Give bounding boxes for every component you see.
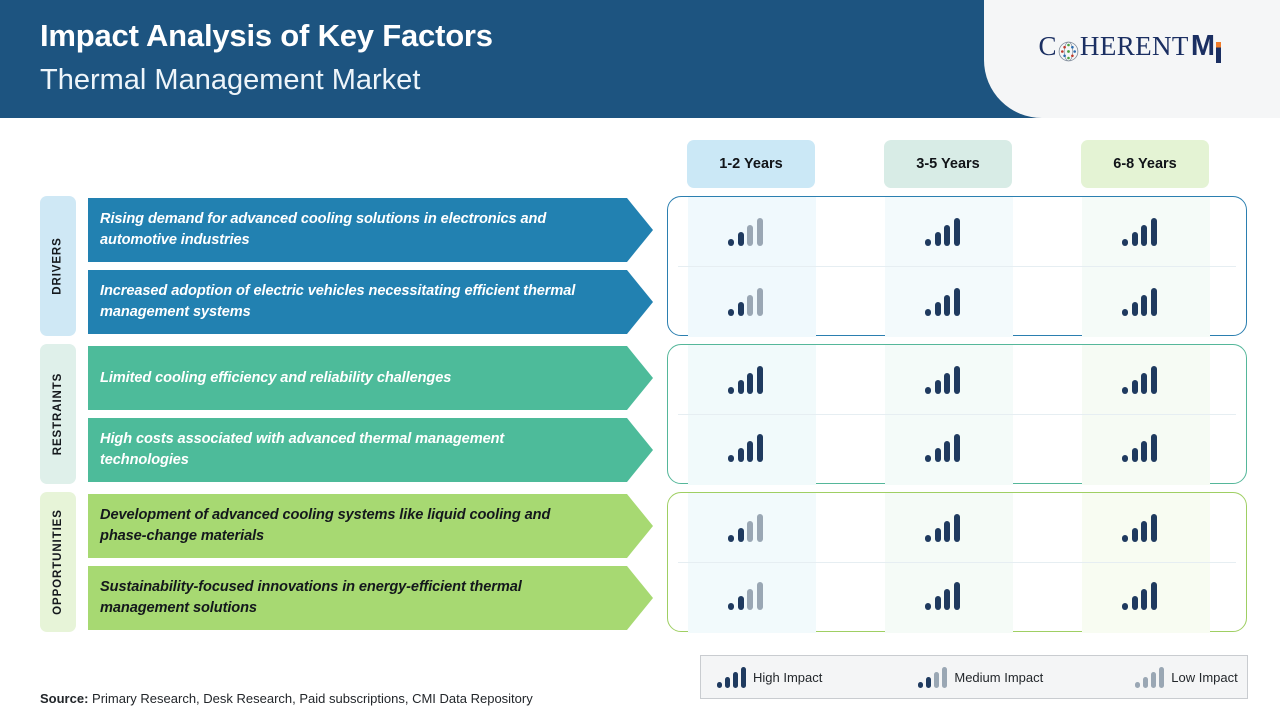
impact-indicator-restraints-r0-c1 bbox=[925, 364, 960, 394]
group-drivers: DRIVERS Rising demand for advanced cooli… bbox=[0, 196, 1280, 336]
factor-text: Rising demand for advanced cooling solut… bbox=[100, 209, 593, 251]
logo-panel: C HERENT bbox=[984, 0, 1280, 118]
impact-indicator-drivers-r0-c0 bbox=[728, 216, 763, 246]
column-header-1-2-years: 1-2 Years bbox=[687, 140, 815, 188]
page-subtitle: Thermal Management Market bbox=[40, 58, 493, 102]
factor-banner: Sustainability-focused innovations in en… bbox=[88, 566, 653, 630]
impact-indicator-opportunities-r0-c2 bbox=[1122, 512, 1157, 542]
logo-wordmark: C HERENT bbox=[1039, 31, 1189, 62]
logo-letter-i-accent bbox=[1216, 42, 1221, 63]
category-label-restraints: RESTRAINTS bbox=[52, 373, 64, 455]
source-value: Primary Research, Desk Research, Paid su… bbox=[88, 691, 532, 706]
category-label-drivers: DRIVERS bbox=[52, 237, 64, 294]
legend-item-low-impact: Low Impact bbox=[1135, 655, 1237, 699]
impact-indicator-drivers-r0-c1 bbox=[925, 216, 960, 246]
factor-banner: High costs associated with advanced ther… bbox=[88, 418, 653, 482]
impact-indicator-restraints-r1-c2 bbox=[1122, 432, 1157, 462]
brand-logo: C HERENT bbox=[984, 30, 1276, 63]
source-footer: Source: Primary Research, Desk Research,… bbox=[40, 691, 533, 706]
timeframe-column-headers: 1-2 Years 3-5 Years 6-8 Years bbox=[0, 140, 1280, 188]
legend-label-medium: Medium Impact bbox=[954, 670, 1043, 685]
low-impact-bars-icon bbox=[1135, 666, 1164, 688]
page-header: Impact Analysis of Key Factors Thermal M… bbox=[0, 0, 1280, 118]
group-opportunities: OPPORTUNITIES Development of advanced co… bbox=[0, 492, 1280, 632]
impact-legend: High Impact Medium Impact Low Impact bbox=[700, 655, 1248, 699]
column-header-3-5-years: 3-5 Years bbox=[884, 140, 1012, 188]
impact-indicator-drivers-r1-c1 bbox=[925, 286, 960, 316]
impact-indicator-opportunities-r0-c0 bbox=[728, 512, 763, 542]
high-impact-bars-icon bbox=[717, 666, 746, 688]
row-divider bbox=[678, 562, 1236, 563]
factor-banner: Limited cooling efficiency and reliabili… bbox=[88, 346, 653, 410]
impact-indicator-restraints-r1-c0 bbox=[728, 432, 763, 462]
row-divider bbox=[678, 266, 1236, 267]
logo-letter-m: M bbox=[1191, 30, 1215, 63]
legend-item-high-impact: High Impact bbox=[717, 655, 822, 699]
category-label-opportunities: OPPORTUNITIES bbox=[52, 509, 64, 615]
legend-label-low: Low Impact bbox=[1171, 670, 1237, 685]
source-label: Source: bbox=[40, 691, 88, 706]
impact-indicator-restraints-r0-c0 bbox=[728, 364, 763, 394]
logo-letter-c: C bbox=[1039, 31, 1057, 62]
impact-indicator-drivers-r1-c0 bbox=[728, 286, 763, 316]
factor-banner: Development of advanced cooling systems … bbox=[88, 494, 653, 558]
category-tab-drivers: DRIVERS bbox=[40, 196, 76, 336]
legend-label-high: High Impact bbox=[753, 670, 822, 685]
impact-indicator-drivers-r0-c2 bbox=[1122, 216, 1157, 246]
factor-text: Sustainability-focused innovations in en… bbox=[100, 577, 593, 619]
group-restraints: RESTRAINTS Limited cooling efficiency an… bbox=[0, 344, 1280, 484]
factor-text: High costs associated with advanced ther… bbox=[100, 429, 593, 471]
factor-banner: Rising demand for advanced cooling solut… bbox=[88, 198, 653, 262]
legend-item-medium-impact: Medium Impact bbox=[918, 655, 1043, 699]
impact-indicator-restraints-r1-c1 bbox=[925, 432, 960, 462]
impact-indicator-opportunities-r1-c1 bbox=[925, 580, 960, 610]
medium-impact-bars-icon bbox=[918, 666, 947, 688]
row-divider bbox=[678, 414, 1236, 415]
category-tab-restraints: RESTRAINTS bbox=[40, 344, 76, 484]
header-titles: Impact Analysis of Key Factors Thermal M… bbox=[40, 14, 493, 102]
factor-text: Development of advanced cooling systems … bbox=[100, 505, 593, 547]
impact-indicator-opportunities-r0-c1 bbox=[925, 512, 960, 542]
impact-indicator-opportunities-r1-c2 bbox=[1122, 580, 1157, 610]
factor-text: Increased adoption of electric vehicles … bbox=[100, 281, 593, 323]
category-tab-opportunities: OPPORTUNITIES bbox=[40, 492, 76, 632]
factor-banner: Increased adoption of electric vehicles … bbox=[88, 270, 653, 334]
column-header-6-8-years: 6-8 Years bbox=[1081, 140, 1209, 188]
impact-indicator-restraints-r0-c2 bbox=[1122, 364, 1157, 394]
logo-mi: M bbox=[1191, 30, 1222, 63]
page-title: Impact Analysis of Key Factors bbox=[40, 14, 493, 58]
impact-indicator-drivers-r1-c2 bbox=[1122, 286, 1157, 316]
logo-letters-herent: HERENT bbox=[1080, 31, 1189, 62]
globe-icon bbox=[1058, 38, 1079, 59]
factor-text: Limited cooling efficiency and reliabili… bbox=[100, 368, 451, 389]
impact-indicator-opportunities-r1-c0 bbox=[728, 580, 763, 610]
